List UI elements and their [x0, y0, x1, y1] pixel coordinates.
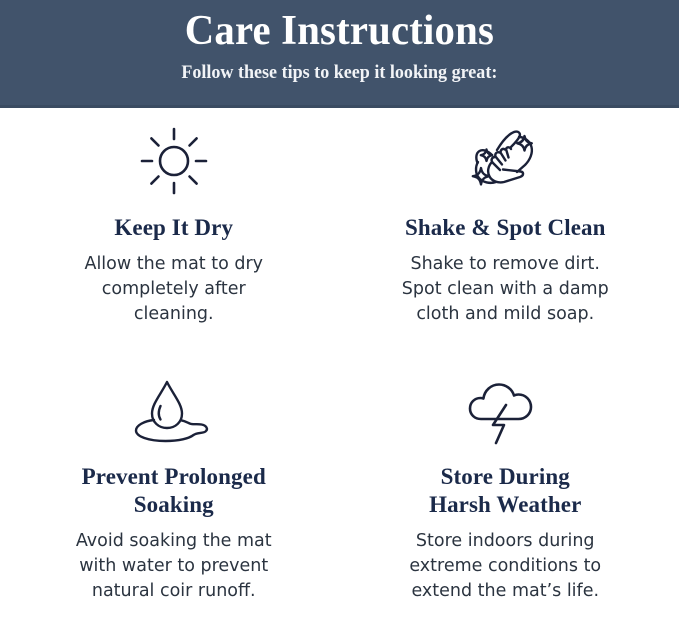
- header-banner: Care Instructions Follow these tips to k…: [0, 0, 679, 108]
- tip-body: Allow the mat to dry completely after cl…: [84, 252, 263, 327]
- tip-card-store-during-harsh-weather: Store During Harsh Weather Store indoors…: [340, 373, 672, 624]
- tip-card-prevent-prolonged-soaking: Prevent Prolonged Soaking Avoid soaking …: [8, 373, 340, 624]
- tips-grid: Keep It Dry Allow the mat to dry complet…: [0, 108, 679, 628]
- water-droplet-puddle-icon: [127, 373, 221, 451]
- sun-icon: [138, 122, 210, 200]
- hands-washing-sparkle-icon: [462, 122, 548, 200]
- page-subtitle: Follow these tips to keep it looking gre…: [181, 60, 497, 86]
- tip-title: Store During Harsh Weather: [429, 463, 581, 519]
- tip-title: Keep It Dry: [114, 214, 233, 242]
- care-instructions-infographic: Care Instructions Follow these tips to k…: [0, 0, 679, 628]
- tip-card-shake-and-spot-clean: Shake & Spot Clean Shake to remove dirt.…: [340, 122, 672, 373]
- tip-body: Store indoors during extreme conditions …: [409, 529, 601, 604]
- tip-title: Shake & Spot Clean: [405, 214, 606, 242]
- storm-cloud-lightning-icon: [465, 373, 545, 451]
- tip-body: Avoid soaking the mat with water to prev…: [76, 529, 272, 604]
- tip-body: Shake to remove dirt. Spot clean with a …: [402, 252, 609, 327]
- page-title: Care Instructions: [185, 6, 494, 56]
- tip-title: Prevent Prolonged Soaking: [82, 463, 266, 519]
- tip-card-keep-it-dry: Keep It Dry Allow the mat to dry complet…: [8, 122, 340, 373]
